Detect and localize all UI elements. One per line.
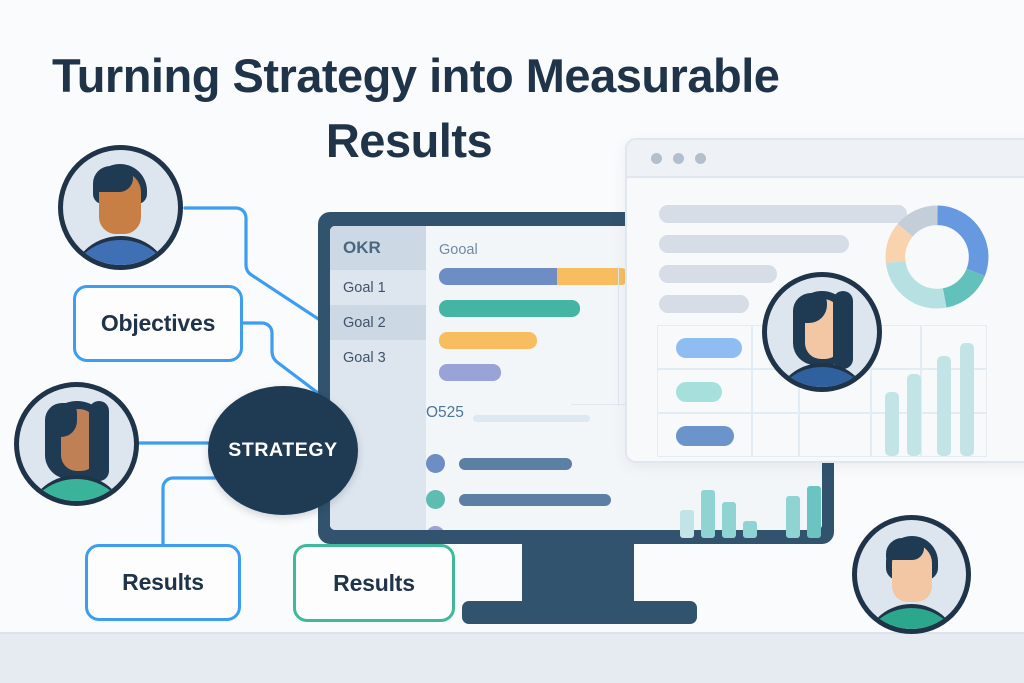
goal-bar-1 xyxy=(439,268,629,285)
browser-bar xyxy=(960,343,974,456)
strategy-hub[interactable]: STRATEGY xyxy=(208,386,358,515)
avatar-hair-fringe xyxy=(45,403,77,437)
list-item[interactable] xyxy=(426,526,624,530)
window-dot-icon[interactable] xyxy=(695,153,706,164)
skeleton-line xyxy=(659,235,849,253)
okr-row-goal-2[interactable]: Goal 2 xyxy=(330,305,426,340)
table-pill xyxy=(676,426,734,446)
avatar-ring xyxy=(762,272,882,392)
floor-strip xyxy=(0,632,1024,683)
desk-mini-bar-chart xyxy=(680,478,830,538)
monitor-base xyxy=(462,601,697,624)
browser-donut-chart xyxy=(882,202,992,312)
mini-bar xyxy=(807,486,821,538)
node-objectives[interactable]: Objectives xyxy=(73,285,243,362)
avatar xyxy=(762,272,882,392)
mini-bar xyxy=(786,496,800,538)
list-item-bar xyxy=(459,530,624,531)
mini-bar xyxy=(701,490,715,538)
goal-bar-4 xyxy=(439,364,501,381)
list-item-dot-periwinkle xyxy=(426,526,445,530)
metric-underline xyxy=(473,415,590,422)
list-item[interactable] xyxy=(426,490,611,509)
okr-row-goal-1[interactable]: Goal 1 xyxy=(330,270,426,305)
avatar-ring xyxy=(14,382,139,506)
illustration-canvas: Turning Strategy into Measurable Results… xyxy=(0,0,1024,683)
avatar-body xyxy=(25,475,128,506)
list-item-dot-blue xyxy=(426,454,445,473)
avatar-body xyxy=(69,236,172,270)
avatar xyxy=(14,382,139,506)
avatar-hair-side xyxy=(89,401,109,481)
mini-bar xyxy=(722,502,736,538)
avatar xyxy=(852,515,971,634)
avatar-ring xyxy=(852,515,971,634)
table-pill xyxy=(676,338,742,358)
page-title-line-1: Turning Strategy into Measurable xyxy=(52,49,779,102)
avatar-hair-fringe xyxy=(93,166,133,192)
okr-sidebar-header: OKR xyxy=(330,226,426,270)
monitor-neck xyxy=(522,543,634,607)
gridline-1 xyxy=(618,266,619,406)
window-dot-icon[interactable] xyxy=(651,153,662,164)
goal-bar-1-progress xyxy=(439,268,557,285)
goal-bar-2 xyxy=(439,300,580,317)
avatar-ring xyxy=(58,145,183,270)
list-item-bar xyxy=(459,458,572,470)
avatar-hair-side xyxy=(833,291,853,369)
table-pill xyxy=(676,382,722,402)
mini-bar xyxy=(743,521,757,538)
browser-titlebar xyxy=(627,140,1024,178)
window-dot-icon[interactable] xyxy=(673,153,684,164)
skeleton-line xyxy=(659,295,749,313)
browser-bar xyxy=(937,356,951,456)
node-results-right[interactable]: Results xyxy=(293,544,455,622)
avatar-hair-fringe xyxy=(886,538,924,560)
skeleton-line xyxy=(659,265,777,283)
list-item[interactable] xyxy=(426,454,572,473)
skeleton-line xyxy=(659,205,907,223)
okr-row-goal-3[interactable]: Goal 3 xyxy=(330,340,426,375)
metric-label-o525: O525 xyxy=(426,404,464,422)
node-results-left[interactable]: Results xyxy=(85,544,241,621)
browser-bar xyxy=(885,392,899,456)
mini-bar xyxy=(680,510,694,538)
avatar xyxy=(58,145,183,270)
browser-bar xyxy=(907,374,921,456)
list-item-bar xyxy=(459,494,611,506)
list-item-dot-teal xyxy=(426,490,445,509)
avatar-body xyxy=(863,604,960,634)
goal-bar-3 xyxy=(439,332,537,349)
